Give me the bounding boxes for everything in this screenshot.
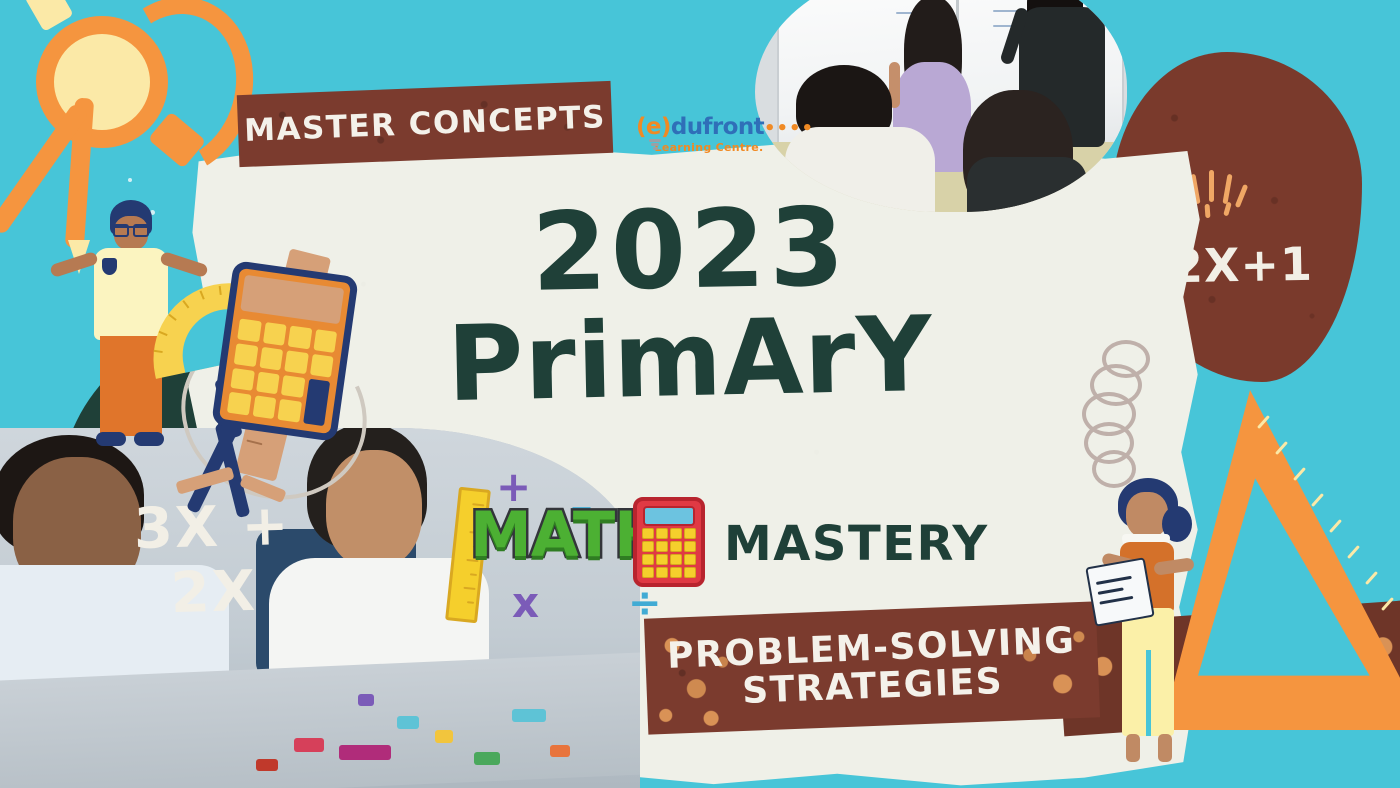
classroom-whiteboard-photo (755, 0, 1127, 212)
mastery-label-wrap: MASTERY (712, 516, 989, 572)
master-concepts-label: MASTER CONCEPTS (244, 101, 607, 147)
logo-e: (e) (636, 114, 671, 140)
headline-block: 2023 PrimArY (430, 200, 950, 411)
teacher-illustration (1096, 478, 1216, 788)
logo-du: du (671, 114, 703, 140)
master-concepts-banner: MASTER CONCEPTS (237, 81, 613, 167)
logo-front: front (702, 114, 764, 140)
logo-dots: •••• (764, 118, 814, 139)
poster-canvas: 2X+1 (0, 0, 1400, 788)
problem-solving-line2: STRATEGIES (742, 663, 1004, 711)
headline-level: PrimArY (429, 301, 951, 416)
calculator-icon (633, 497, 705, 587)
times-symbol-icon: x (512, 578, 539, 627)
lightbulb-icon (648, 138, 662, 150)
headline-year: 2023 (429, 195, 951, 307)
calculator-icon (211, 260, 359, 442)
clipboard-icon (1085, 557, 1155, 627)
brand-logo[interactable]: (e)dufront•••• Learning Centre. (636, 116, 782, 154)
problem-solving-banner: PROBLEM-SOLVING STRATEGIES (644, 601, 1100, 734)
mastery-label: MASTERY (724, 516, 989, 572)
